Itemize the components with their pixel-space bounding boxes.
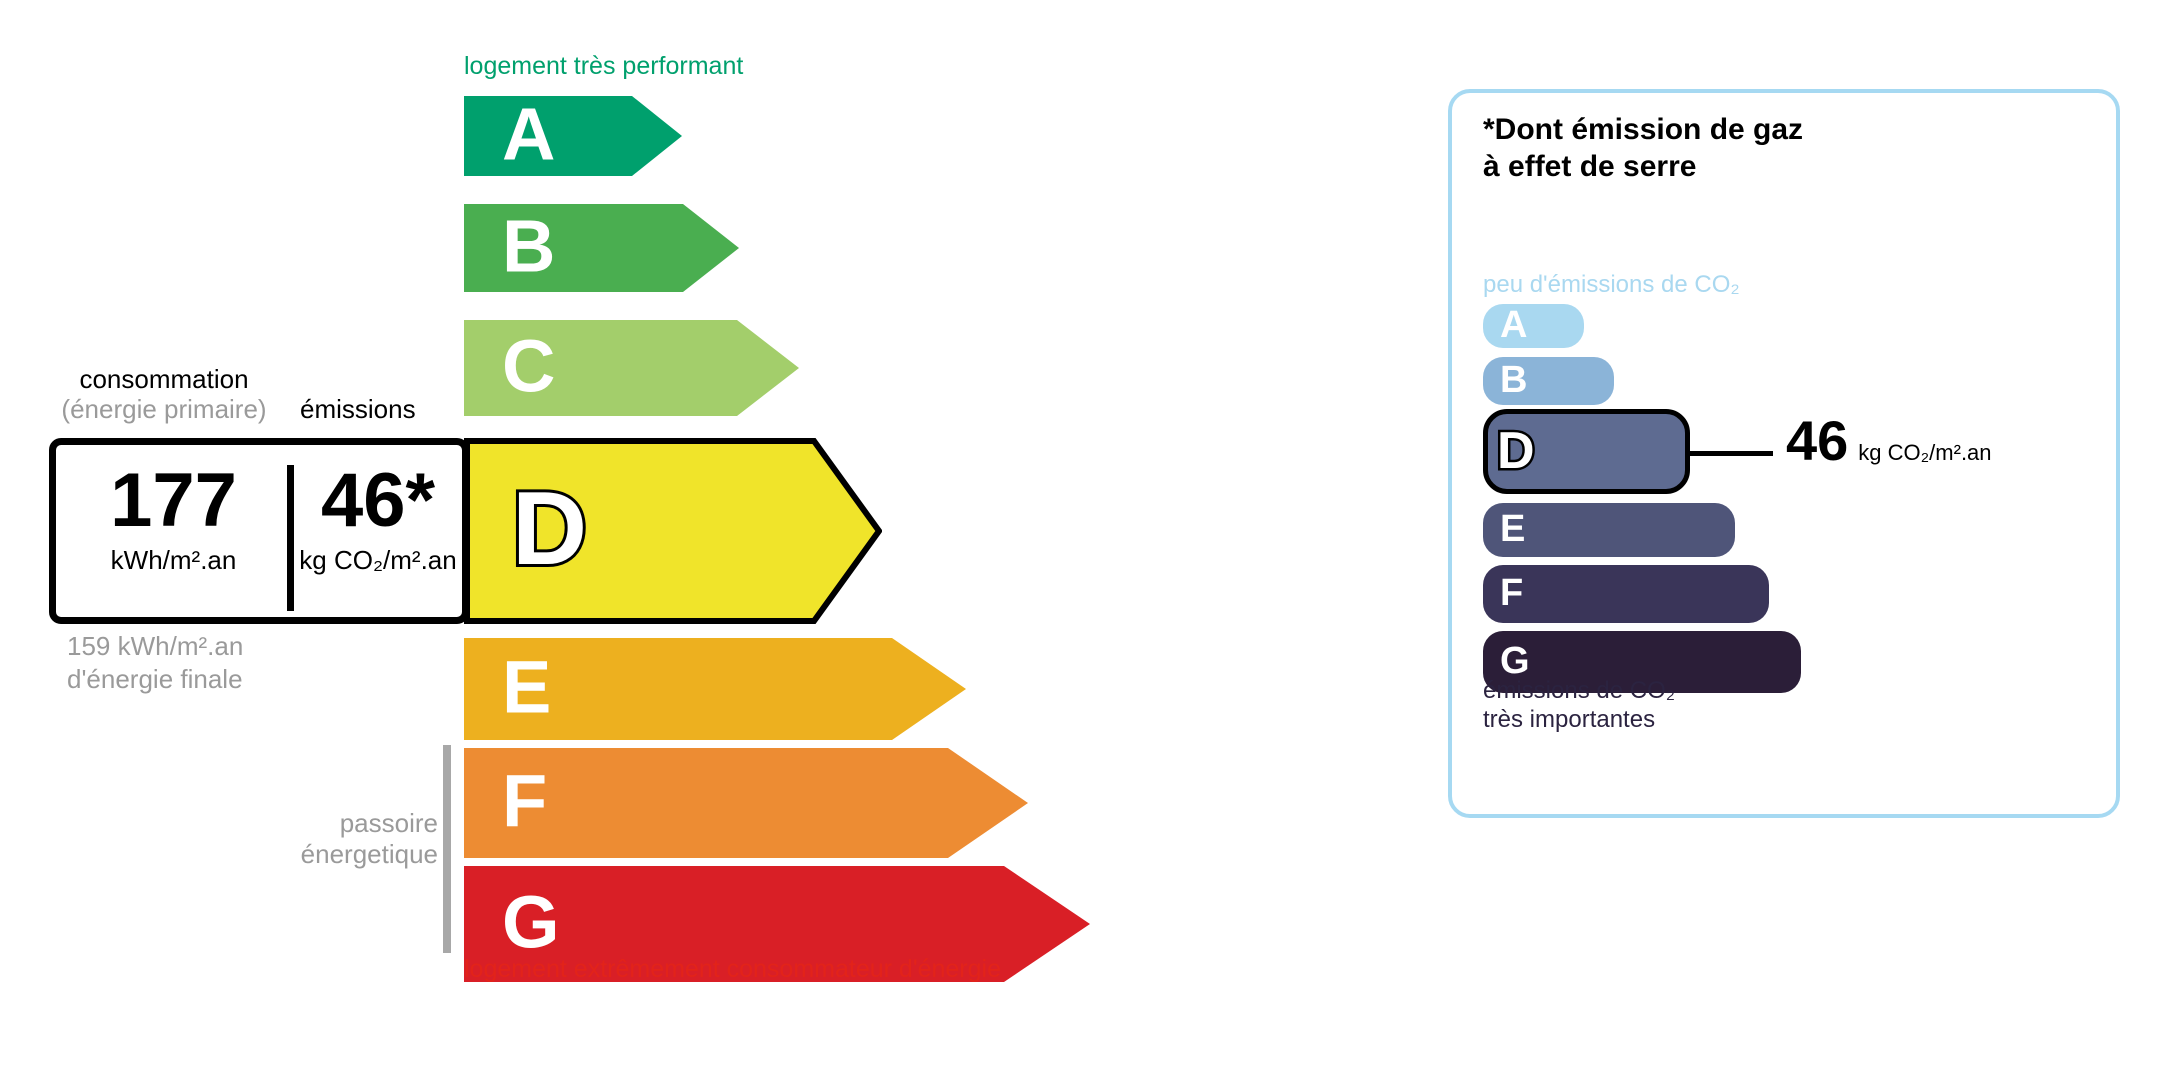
- primary-energy-value: 177: [66, 463, 281, 539]
- energy-band-letter-a: A: [502, 98, 555, 172]
- dpe-value-box: 177 kWh/m².an 46* kg CO₂/m².an: [49, 438, 469, 624]
- co2-bottom-caption-line2: très importantes: [1483, 706, 1655, 733]
- energy-band-letter-b: B: [502, 210, 555, 284]
- co2-band-b[interactable]: B: [1483, 357, 1614, 405]
- consumption-label-sub: (énergie primaire): [49, 394, 279, 424]
- co2-band-letter-e: E: [1500, 510, 1525, 548]
- co2-panel-title: *Dont émission de gaz à effet de serre: [1483, 112, 1803, 185]
- consumption-label: consommation (énergie primaire): [49, 364, 279, 424]
- final-energy-line2: d'énergie finale: [67, 664, 243, 694]
- co2-top-caption: peu d'émissions de CO₂: [1483, 271, 1740, 299]
- passoire-marker-bar: [443, 745, 451, 953]
- energy-band-letter-e: E: [502, 651, 551, 725]
- co2-band-letter-a: A: [1500, 306, 1527, 344]
- co2-band-letter-b: B: [1500, 361, 1527, 399]
- co2-emission-value: 46*: [299, 463, 457, 539]
- co2-emission-value-cell: 46* kg CO₂/m².an: [299, 463, 457, 576]
- co2-bottom-caption-line1: émissions de CO₂: [1483, 677, 1675, 704]
- consumption-label-main: consommation: [79, 364, 248, 394]
- co2-band-a[interactable]: A: [1483, 304, 1584, 348]
- energy-band-c[interactable]: C: [464, 320, 809, 416]
- final-energy-line1: 159 kWh/m².an: [67, 631, 243, 661]
- energy-band-letter-c: C: [502, 330, 555, 404]
- co2-panel-title-line1: *Dont émission de gaz: [1483, 113, 1803, 146]
- passoire-label: passoire énergetique: [268, 808, 438, 870]
- co2-band-e[interactable]: E: [1483, 503, 1735, 557]
- passoire-label-line1: passoire: [340, 808, 438, 838]
- primary-energy-value-cell: 177 kWh/m².an: [66, 463, 281, 576]
- co2-value-callout: 46kg CO₂/m².an: [1786, 413, 1992, 469]
- co2-emissions-panel: *Dont émission de gaz à effet de serre p…: [1448, 89, 2120, 818]
- co2-band-letter-d: D: [1497, 424, 1535, 476]
- energy-bottom-caption: logement extrêmement consommateur d'éner…: [464, 955, 1001, 984]
- co2-leader-line: [1689, 451, 1773, 456]
- energy-band-arrow-a: [464, 96, 682, 176]
- value-box-divider: [287, 465, 294, 611]
- co2-emission-unit: kg CO₂/m².an: [299, 545, 457, 576]
- energy-top-caption: logement très performant: [464, 52, 743, 81]
- co2-bottom-caption: émissions de CO₂ très importantes: [1483, 676, 1675, 735]
- co2-band-bar-f: [1483, 565, 1769, 623]
- co2-band-f[interactable]: F: [1483, 565, 1769, 623]
- co2-value-unit: kg CO₂/m².an: [1858, 440, 1991, 465]
- energy-band-letter-g: G: [502, 886, 560, 960]
- energy-band-f[interactable]: F: [464, 748, 1038, 858]
- co2-value-number: 46: [1786, 409, 1848, 472]
- final-energy-note: 159 kWh/m².an d'énergie finale: [67, 630, 243, 695]
- co2-panel-title-line2: à effet de serre: [1483, 150, 1696, 183]
- co2-band-letter-g: G: [1500, 642, 1530, 680]
- energy-band-b[interactable]: B: [464, 204, 749, 292]
- energy-band-letter-f: F: [502, 765, 547, 839]
- co2-band-letter-f: F: [1500, 574, 1523, 612]
- primary-energy-unit: kWh/m².an: [66, 545, 281, 576]
- energy-band-e[interactable]: E: [464, 638, 976, 740]
- energy-band-d[interactable]: D: [464, 438, 892, 624]
- co2-band-d[interactable]: D: [1483, 409, 1690, 494]
- passoire-label-line2: énergetique: [301, 839, 438, 869]
- energy-band-arrow-f: [464, 748, 1028, 858]
- energy-band-a[interactable]: A: [464, 96, 692, 176]
- energy-band-letter-d: D: [512, 477, 587, 581]
- energy-performance-chart: logement très performant ABCDEFG passoir…: [0, 0, 1400, 1079]
- emissions-label: émissions: [300, 394, 416, 425]
- co2-band-bar-a: [1483, 304, 1584, 348]
